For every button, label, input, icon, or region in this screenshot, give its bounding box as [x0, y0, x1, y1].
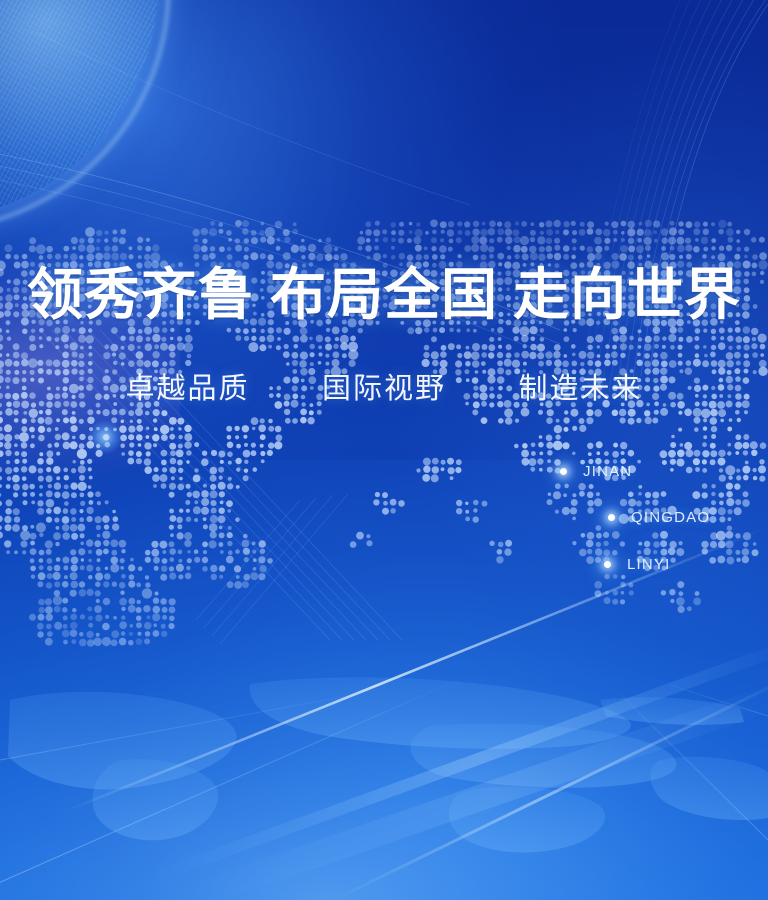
city-marker-dot-icon [604, 561, 611, 568]
perspective-horizon-grid [0, 678, 768, 900]
subtitle-part-3: 制造未来 [519, 373, 643, 405]
diagonal-light-streaks [60, 527, 768, 900]
city-marker-qingdao[interactable]: QINGDAO [608, 509, 710, 526]
bottom-haze [0, 560, 768, 900]
city-marker-jinan[interactable]: JINAN [560, 463, 632, 480]
subtitle-part-1: 卓越品质 [125, 373, 249, 405]
page-title: 领秀齐鲁 布局全国 走向世界 [0, 265, 768, 327]
subtitle-part-2: 国际视野 [322, 373, 446, 405]
bottom-glow [0, 460, 768, 900]
page-subtitle: 卓越品质 国际视野 制造未来 [0, 370, 768, 408]
hero-banner: 领秀齐鲁 布局全国 走向世界 卓越品质 国际视野 制造未来 JINAN QING… [0, 0, 768, 900]
right-glow [378, 40, 768, 660]
city-label-qingdao: QINGDAO [631, 509, 710, 526]
city-marker-linyi[interactable]: LINYI [604, 556, 671, 573]
globe-atmosphere-rim [0, 0, 170, 232]
city-label-jinan: JINAN [583, 463, 632, 480]
city-marker-dot-icon [608, 514, 615, 521]
city-label-linyi: LINYI [627, 556, 671, 573]
lower-left-line-fan [196, 494, 348, 644]
ground-world-map-silhouette [8, 677, 768, 852]
curved-line-fan [577, 0, 768, 408]
city-marker-dot-icon [560, 468, 567, 475]
light-orb [88, 420, 122, 454]
